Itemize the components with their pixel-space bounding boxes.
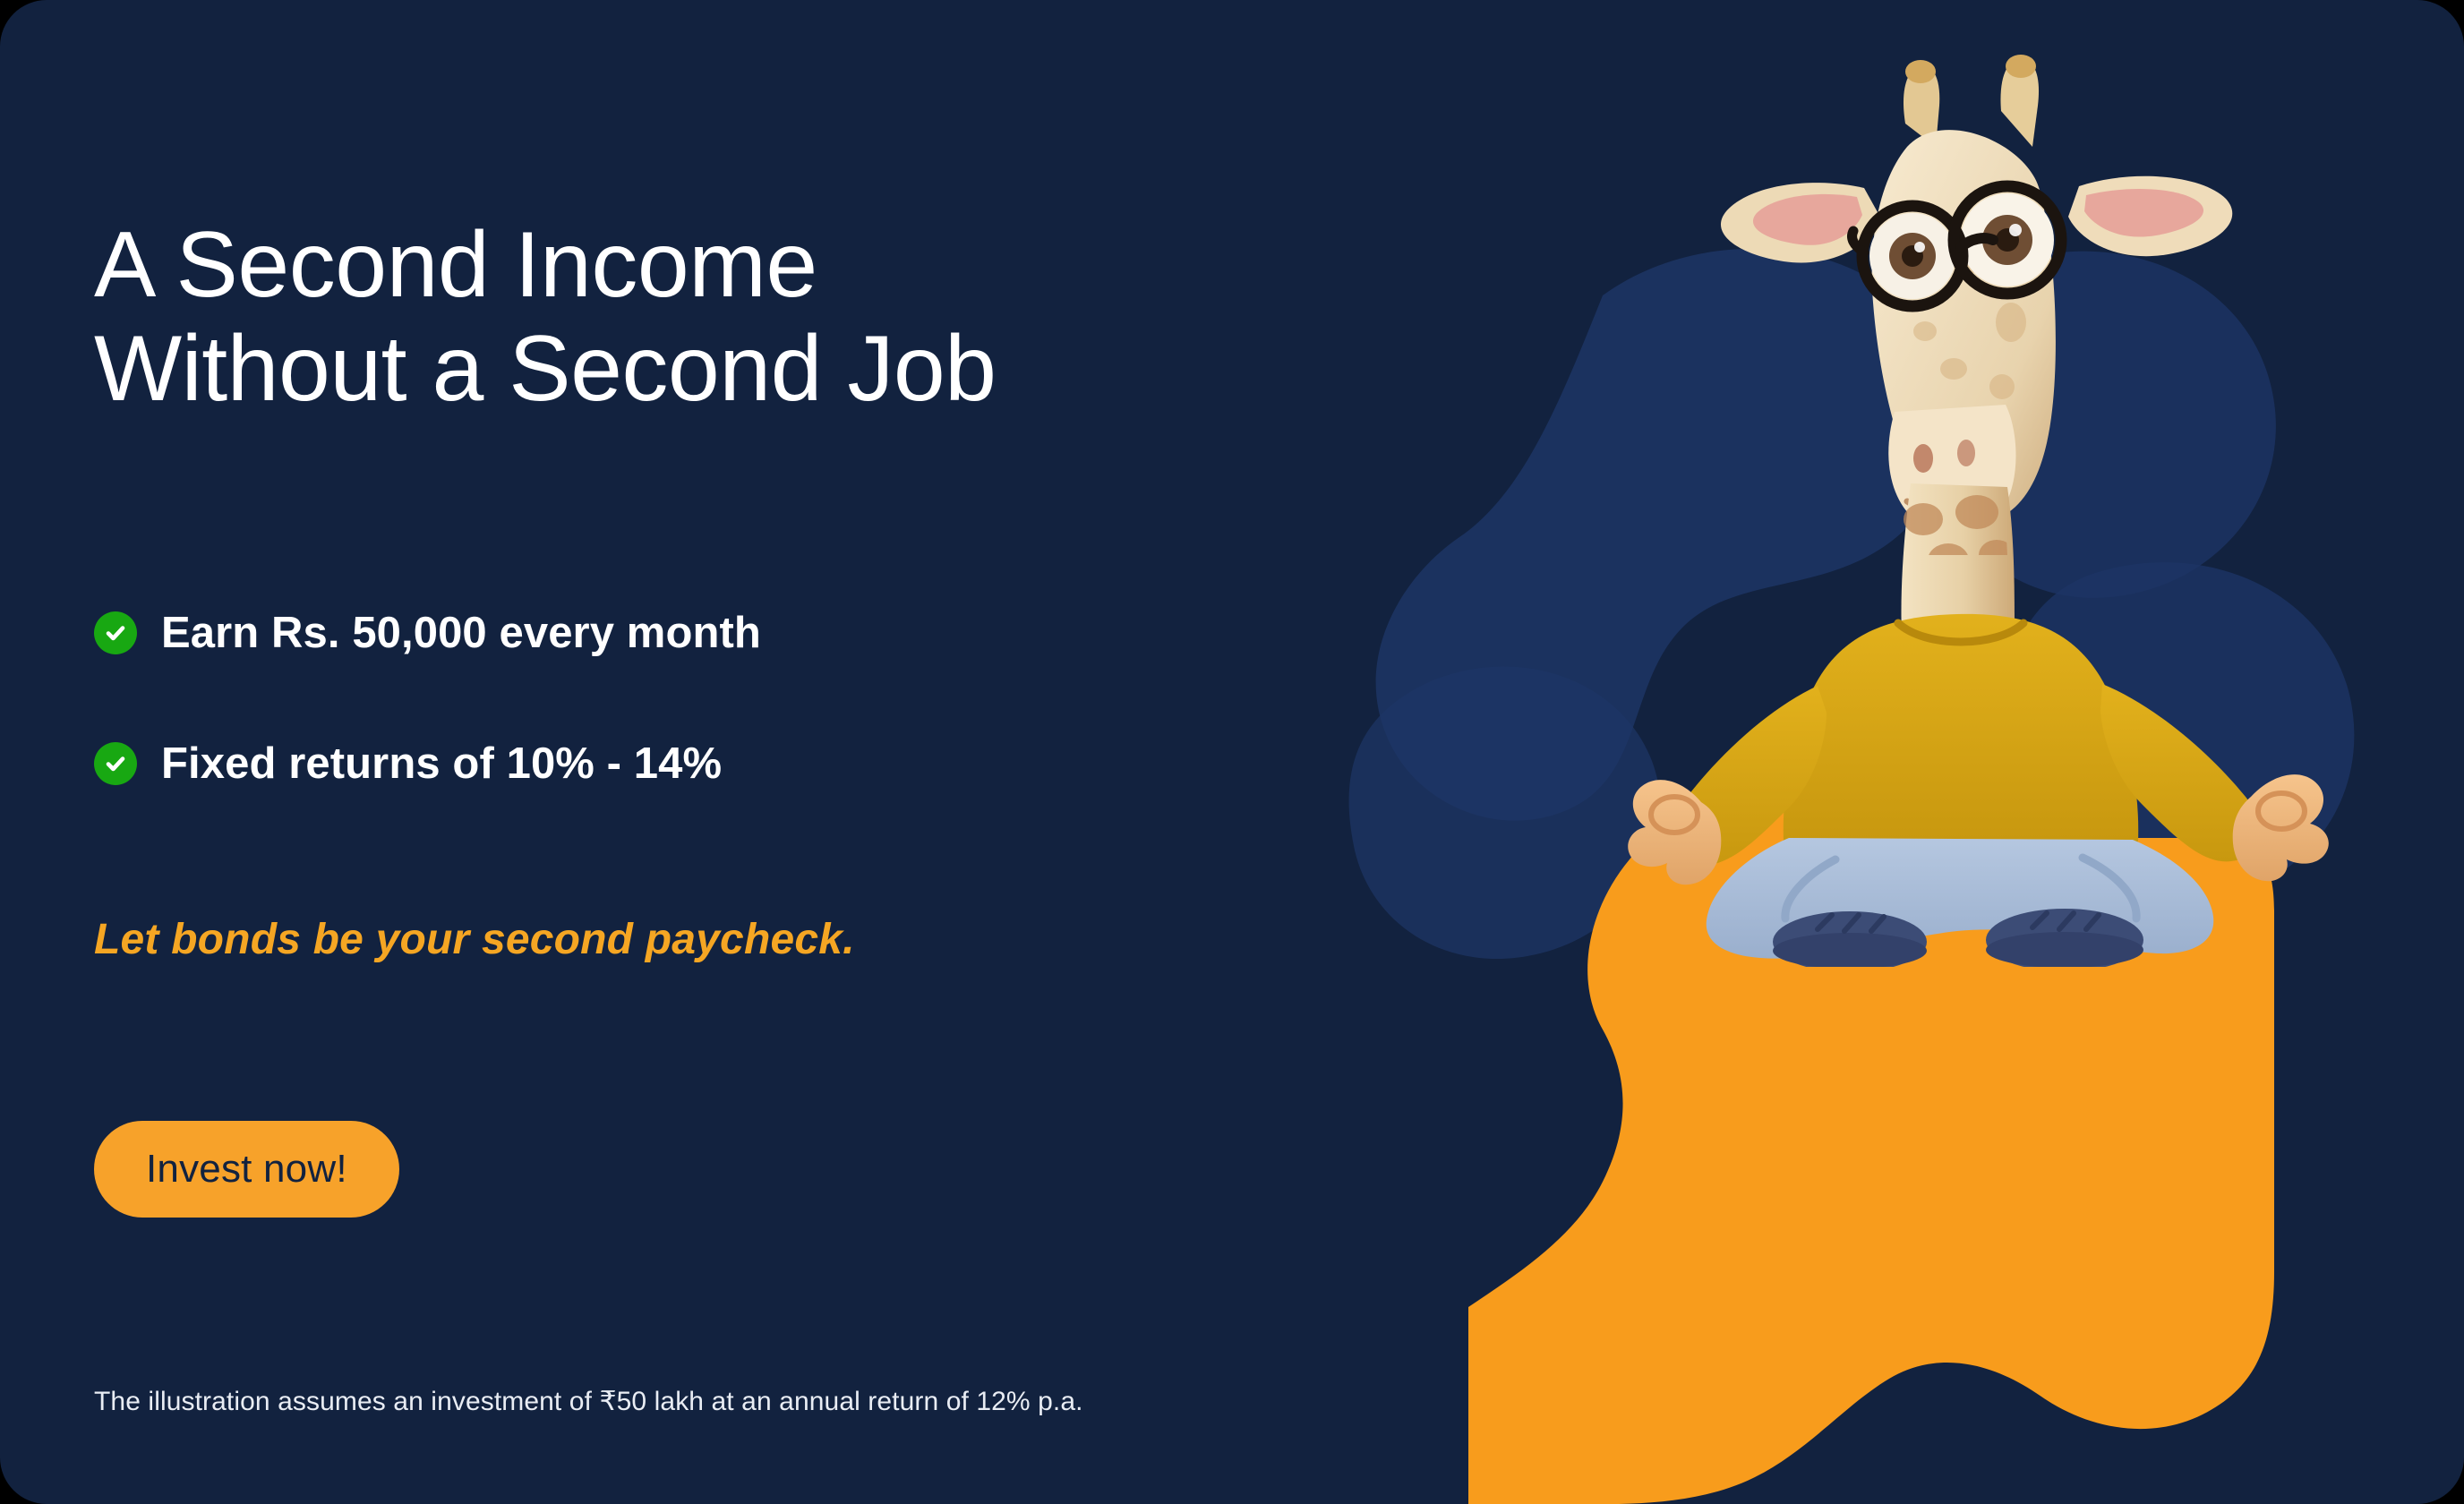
shoe-left [1773, 911, 1927, 967]
page-title: A Second Income Without a Second Job [94, 213, 997, 422]
banner-content: A Second Income Without a Second Job Ear… [94, 0, 1544, 1504]
list-item: Fixed returns of 10% - 14% [94, 732, 761, 795]
giraffe-nostril-right [1957, 440, 1975, 466]
benefit-label: Fixed returns of 10% - 14% [161, 739, 722, 789]
giraffe-crossed-legs [1707, 838, 2214, 967]
promo-banner: A Second Income Without a Second Job Ear… [0, 0, 2464, 1504]
giraffe-ears [1721, 176, 2232, 263]
giraffe-ossicones [1904, 55, 2039, 147]
invest-now-button[interactable]: Invest now! [94, 1121, 399, 1218]
list-item: Earn Rs. 50,000 every month [94, 602, 761, 664]
tagline: Let bonds be your second paycheck. [94, 915, 855, 964]
giraffe-head [1872, 130, 2056, 533]
benefit-list: Earn Rs. 50,000 every month Fixed return… [94, 602, 761, 863]
check-circle-icon [94, 611, 137, 654]
disclaimer-text: The illustration assumes an investment o… [94, 1386, 1083, 1417]
meditation-hand-left [1628, 780, 1721, 884]
shoe-right [1986, 909, 2143, 967]
orange-pedestal-shape [1468, 734, 2464, 1504]
meditation-hand-right [2233, 774, 2329, 881]
giraffe-neck [1901, 483, 2015, 636]
check-circle-icon [94, 742, 137, 785]
giraffe-eyeglasses-icon [1852, 186, 2062, 306]
benefit-label: Earn Rs. 50,000 every month [161, 608, 761, 658]
giraffe-sweater [1669, 614, 2262, 865]
meditating-giraffe-character [1549, 54, 2444, 967]
giraffe-nostril-left [1913, 444, 1933, 473]
